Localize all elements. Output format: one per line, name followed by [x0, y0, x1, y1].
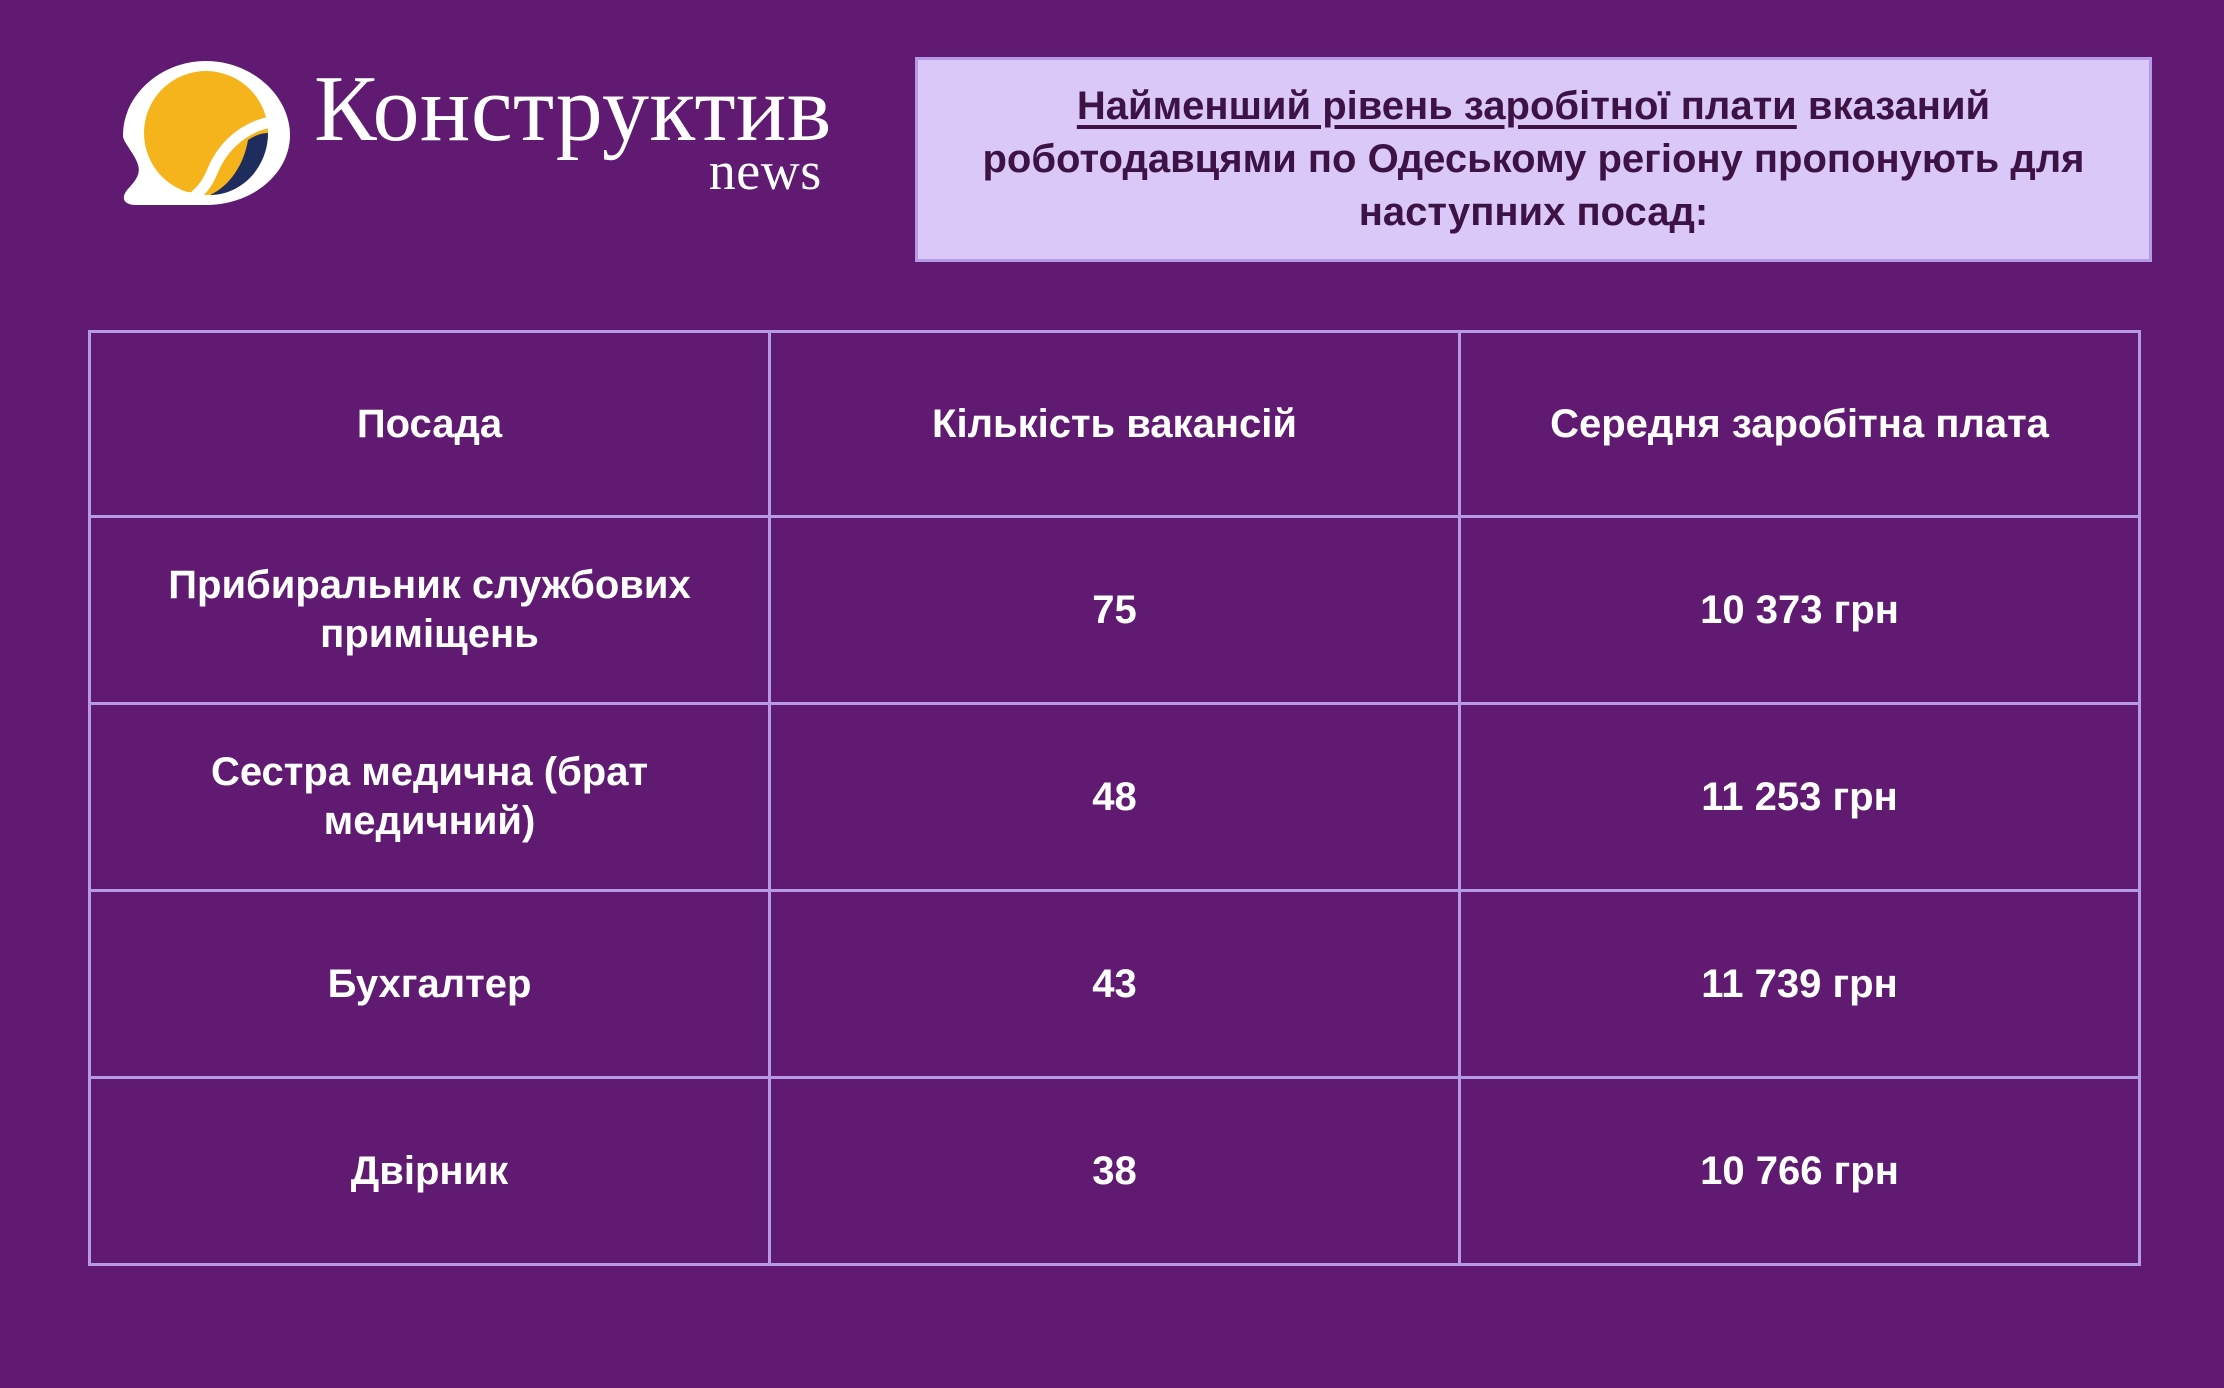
cell-position: Двірник	[90, 1078, 770, 1265]
column-header-salary: Середня заробітна плата	[1460, 332, 2140, 517]
cell-position: Сестра медична (брат медичний)	[90, 704, 770, 891]
cell-position: Бухгалтер	[90, 891, 770, 1078]
column-header-vacancies: Кількість вакансій	[770, 332, 1460, 517]
salary-table: Посада Кількість вакансій Середня заробі…	[88, 330, 2141, 1266]
table-body: Прибиральник службових приміщень 75 10 3…	[90, 517, 2140, 1265]
cell-vacancies: 38	[770, 1078, 1460, 1265]
cell-salary: 11 253 грн	[1460, 704, 2140, 891]
cell-position: Прибиральник службових приміщень	[90, 517, 770, 704]
table-header-row: Посада Кількість вакансій Середня заробі…	[90, 332, 2140, 517]
cell-salary: 11 739 грн	[1460, 891, 2140, 1078]
table-row: Сестра медична (брат медичний) 48 11 253…	[90, 704, 2140, 891]
table-header: Посада Кількість вакансій Середня заробі…	[90, 332, 2140, 517]
table-row: Двірник 38 10 766 грн	[90, 1078, 2140, 1265]
table-row: Прибиральник службових приміщень 75 10 3…	[90, 517, 2140, 704]
cell-salary: 10 373 грн	[1460, 517, 2140, 704]
column-header-position: Посада	[90, 332, 770, 517]
speech-bubble-logo-icon	[118, 58, 296, 208]
page-header: Конструктив news Найменший рівень заробі…	[0, 0, 2224, 300]
cell-vacancies: 43	[770, 891, 1460, 1078]
headline-text: Найменший рівень заробітної плати вказан…	[944, 80, 2123, 238]
brand-lockup[interactable]: Конструктив news	[118, 58, 832, 208]
cell-vacancies: 48	[770, 704, 1460, 891]
cell-vacancies: 75	[770, 517, 1460, 704]
headline-banner: Найменший рівень заробітної плати вказан…	[915, 57, 2152, 262]
table-row: Бухгалтер 43 11 739 грн	[90, 891, 2140, 1078]
headline-emphasis: Найменший рівень заробітної плати	[1077, 84, 1797, 128]
cell-salary: 10 766 грн	[1460, 1078, 2140, 1265]
salary-table-container: Посада Кількість вакансій Середня заробі…	[88, 330, 2138, 1266]
brand-wordmark: Конструктив news	[314, 64, 832, 202]
